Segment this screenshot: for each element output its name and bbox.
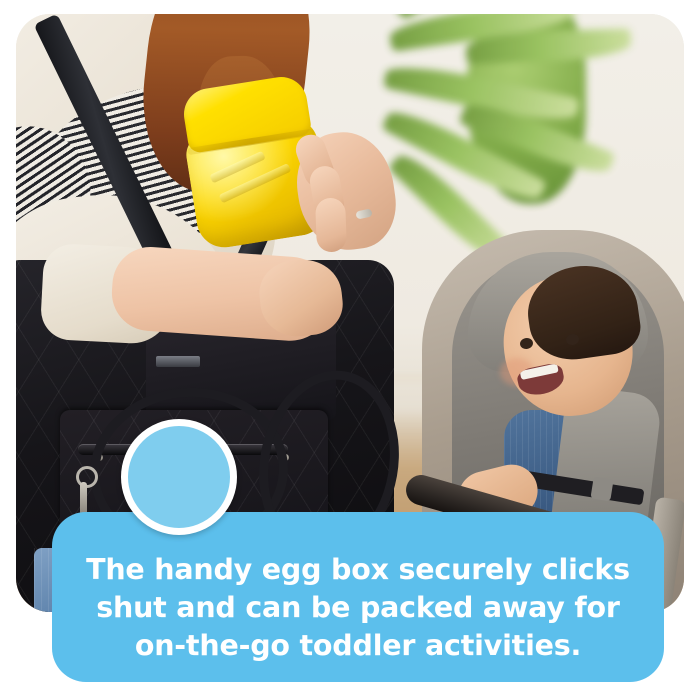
- caption-line-3: on-the-go toddler activities.: [70, 627, 646, 665]
- harness-clip: [590, 477, 613, 502]
- caption-band: The handy egg box securely clicks shut a…: [52, 512, 664, 682]
- footprint-ball: [148, 452, 186, 493]
- footprint-heel: [198, 476, 229, 509]
- product-feature-card: The handy egg box securely clicks shut a…: [0, 0, 700, 700]
- finger: [315, 197, 347, 252]
- footprint-heel: [162, 490, 193, 523]
- caption-line-2: shut and can be packed away for: [70, 589, 646, 627]
- caption-line-1: The handy egg box securely clicks: [70, 551, 646, 589]
- caption-text: The handy egg box securely clicks shut a…: [52, 551, 664, 665]
- footprint-ball: [184, 438, 222, 479]
- baby-footprints-icon: [121, 419, 237, 535]
- bag-brand-label: [156, 356, 200, 367]
